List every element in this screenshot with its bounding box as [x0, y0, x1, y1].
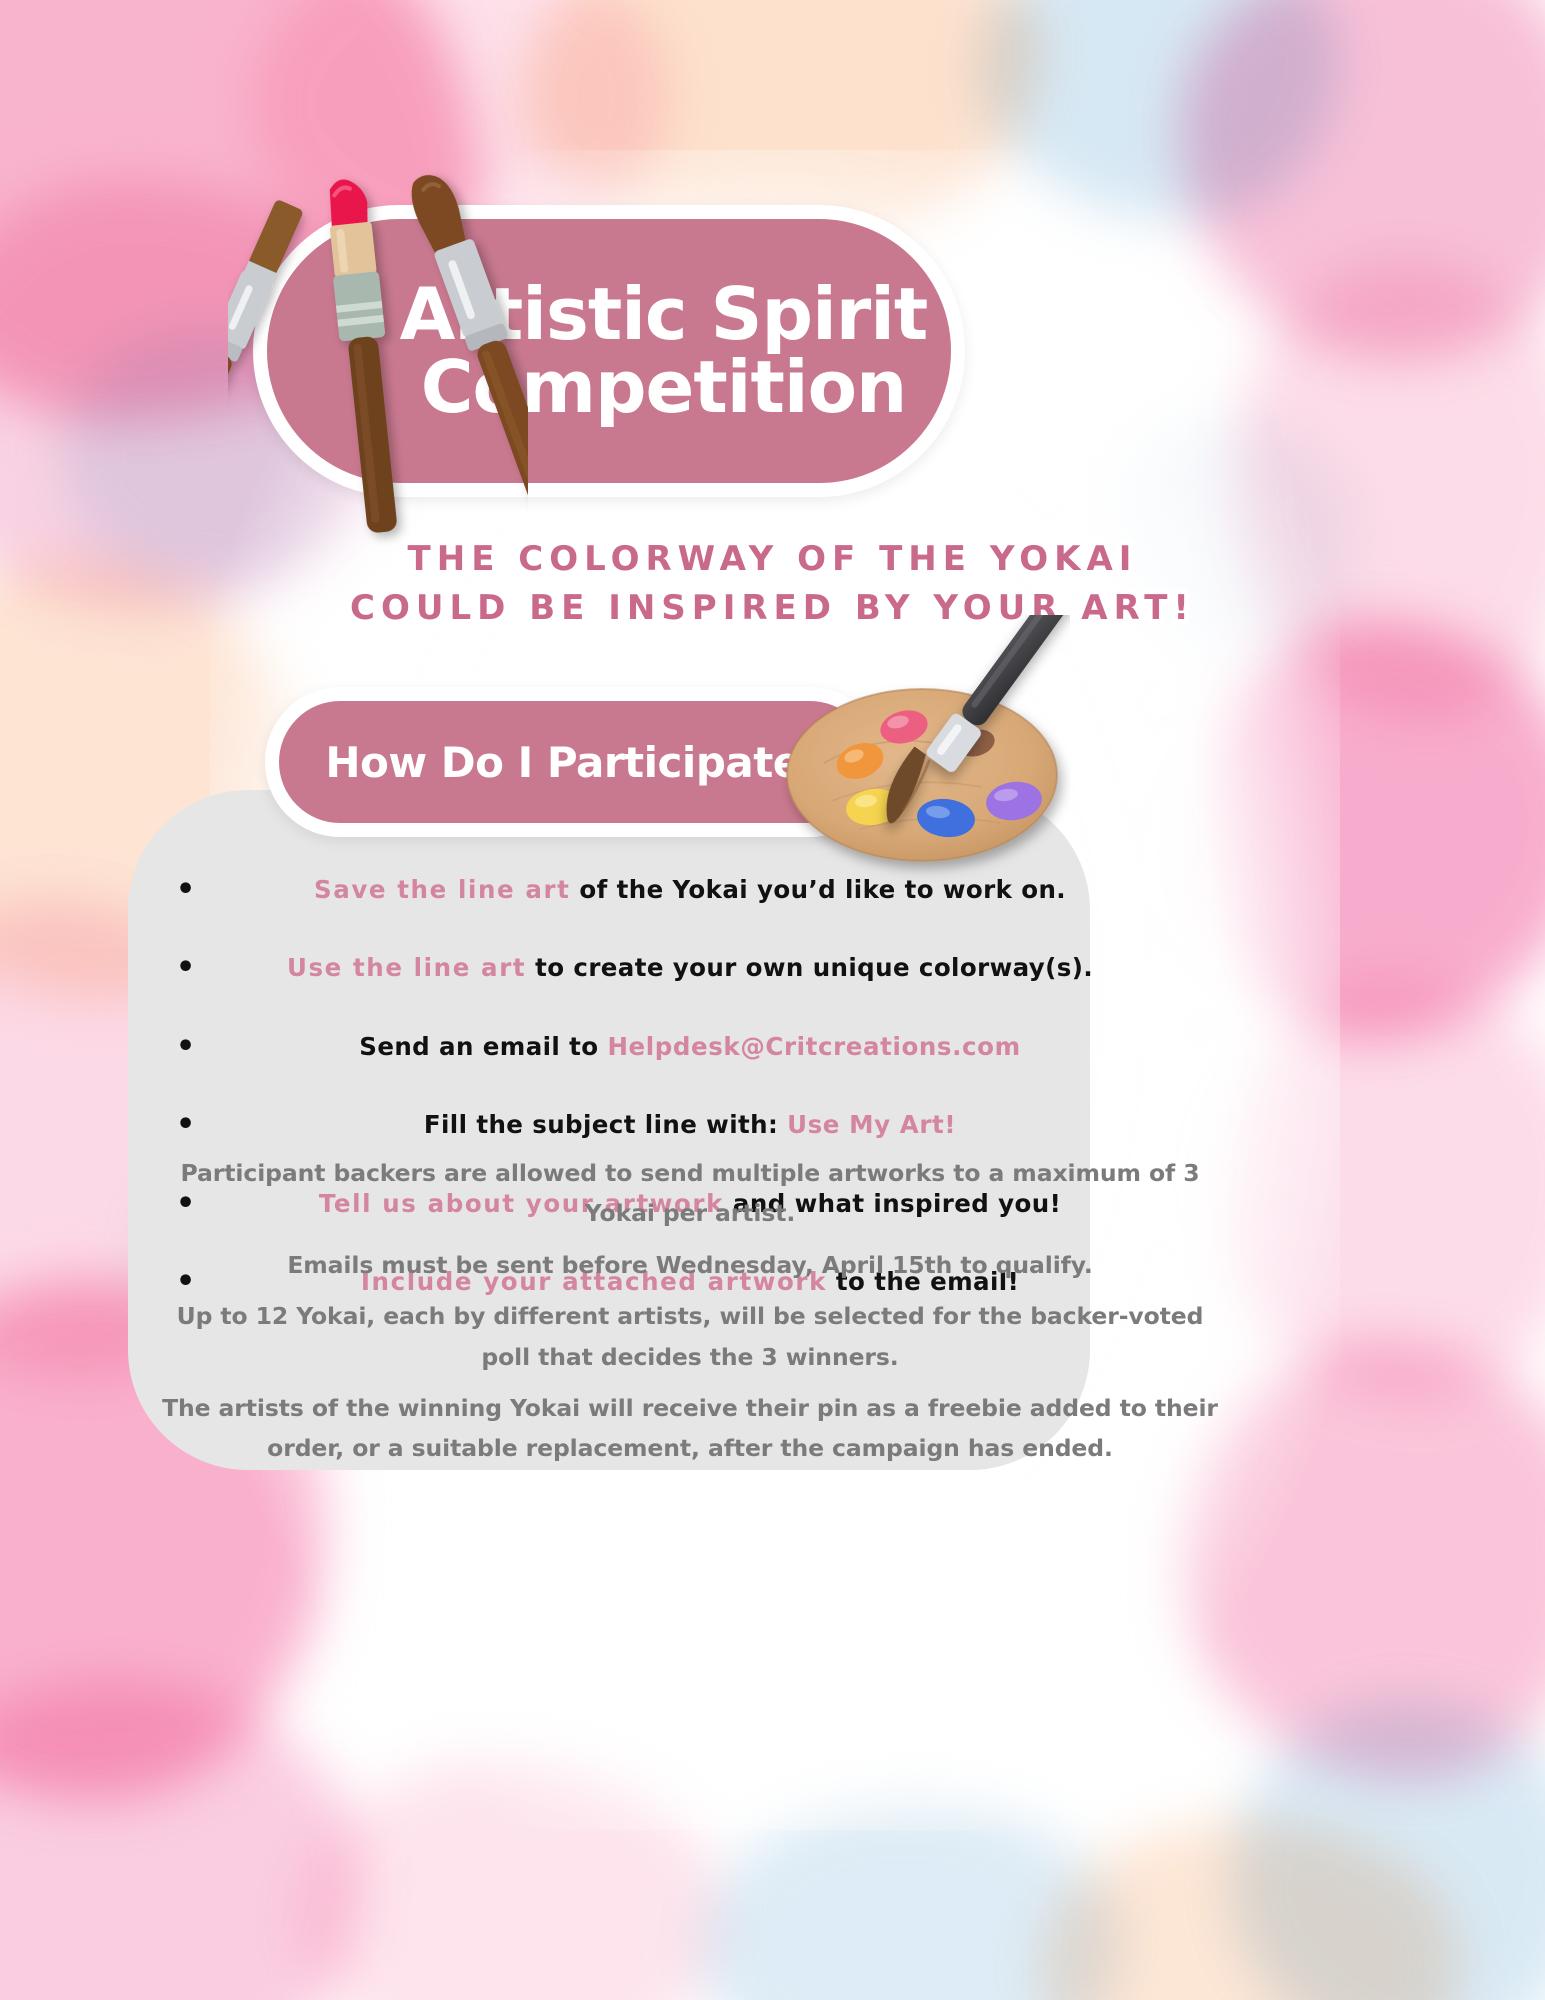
subtitle-line-1: THE COLORWAY OF THE YOKAI — [0, 535, 1545, 584]
step-highlight: Use My Art! — [787, 1110, 956, 1139]
rule-paragraph: Emails must be sent before Wednesday, Ap… — [160, 1245, 1220, 1285]
step-highlight-email[interactable]: Helpdesk@Critcreations.com — [607, 1032, 1020, 1061]
poster-title: Artistic Spirit Competition — [267, 278, 951, 425]
title-line-1: Artistic Spirit — [400, 272, 928, 356]
section-heading: How Do I Participate? — [325, 738, 824, 787]
step-highlight: Use the line art — [287, 953, 526, 982]
rules-paragraphs: Participant backers are allowed to send … — [160, 1153, 1220, 1480]
list-item: Fill the subject line with: Use My Art! — [150, 1110, 1230, 1139]
step-highlight: Save the line art — [314, 875, 571, 904]
poster-root: Artistic Spirit Competition — [0, 0, 1545, 2000]
participate-banner: How Do I Participate? — [265, 687, 885, 837]
step-rest: of the Yokai you’d like to work on. — [570, 875, 1066, 904]
title-banner: Artistic Spirit Competition — [253, 205, 965, 497]
rule-paragraph: The artists of the winning Yokai will re… — [160, 1388, 1220, 1469]
step-rest: Fill the subject line with: — [424, 1110, 787, 1139]
list-item: Use the line art to create your own uniq… — [150, 953, 1230, 982]
poster-subtitle: THE COLORWAY OF THE YOKAI COULD BE INSPI… — [0, 535, 1545, 634]
title-line-2: Competition — [421, 345, 907, 429]
rule-paragraph: Participant backers are allowed to send … — [160, 1153, 1220, 1234]
subtitle-line-2: COULD BE INSPIRED BY YOUR ART! — [0, 584, 1545, 633]
step-rest: Send an email to — [359, 1032, 607, 1061]
list-item: Save the line art of the Yokai you’d lik… — [150, 875, 1230, 904]
list-item: Send an email to Helpdesk@Critcreations.… — [150, 1032, 1230, 1061]
rule-paragraph: Up to 12 Yokai, each by different artist… — [160, 1296, 1220, 1377]
step-rest: to create your own unique colorway(s). — [526, 953, 1093, 982]
